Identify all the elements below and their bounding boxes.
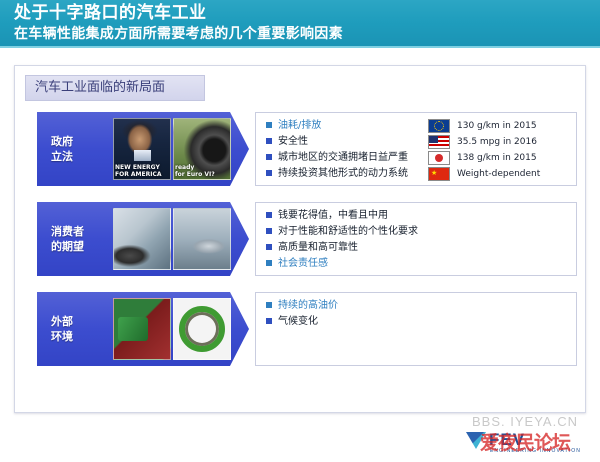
forum-watermark-text: BBS. IYEYA.CN: [460, 414, 590, 430]
factor-row: 外部 环境 持续的高油价 气候变化: [37, 292, 577, 366]
bullet-card: 油耗/排放 安全性 城市地区的交通拥堵日益严重 持续投资其他形式的动力系统: [255, 112, 577, 186]
bullet-marker-icon: [266, 244, 272, 250]
bullet-text: 油耗/排放: [278, 118, 321, 133]
flag-row: 138 g/km in 2015: [428, 150, 570, 166]
obama-new-energy-photo: NEW ENERGY FOR AMERICA: [113, 118, 171, 180]
page-title: 处于十字路口的汽车工业: [14, 2, 600, 24]
fev-logo-tagline: ENGINEERING INNOVATION: [490, 448, 581, 455]
bullet-card: 钱要花得值，中看且中用 对于性能和舒适性的个性化要求 高质量和高可靠性 社会责任…: [255, 202, 577, 276]
bullet-marker-icon: [266, 154, 272, 160]
logo-area: FEV ENGINEERING INNOVATION 爱夜民论坛: [460, 431, 590, 457]
flag-value: 130 g/km in 2015: [457, 121, 537, 131]
japan-flag-icon: [428, 151, 450, 165]
factor-row: 政府 立法 NEW ENERGY FOR AMERICA ready for E…: [37, 112, 577, 186]
bullet-marker-icon: [266, 122, 272, 128]
thumb-caption: NEW ENERGY FOR AMERICA: [114, 164, 170, 178]
bullet-text: 安全性: [278, 134, 308, 149]
bullet-text: 城市地区的交通拥堵日益严重: [278, 150, 408, 165]
category-label: 消费者 的期望: [51, 224, 107, 254]
bullet-text: 高质量和高可靠性: [278, 240, 358, 255]
bullet-marker-icon: [266, 138, 272, 144]
bullet-item: 高质量和高可靠性: [266, 240, 570, 255]
bullet-text: 持续投资其他形式的动力系统: [278, 166, 408, 181]
recycling-globe-photo: [173, 298, 231, 360]
china-flag-icon: [428, 167, 450, 181]
fev-logo-mark-icon: [466, 432, 486, 449]
flag-value: 138 g/km in 2015: [457, 153, 537, 163]
factor-row: 消费者 的期望 钱要花得值，中看且中用 对于性能和舒适性的个性化要求 高质量和高…: [37, 202, 577, 276]
slide-body: 汽车工业面临的新局面 政府 立法 NEW ENERGY FOR AMERICA …: [0, 48, 600, 462]
flag-row: 130 g/km in 2015: [428, 118, 570, 134]
bullet-item: 社会责任感: [266, 256, 570, 271]
bullet-text: 持续的高油价: [278, 298, 338, 313]
bullet-card: 持续的高油价 气候变化: [255, 292, 577, 366]
bullet-text: 对于性能和舒适性的个性化要求: [278, 224, 418, 239]
flag-value: 35.5 mpg in 2016: [457, 137, 537, 147]
regulation-flag-table: 130 g/km in 2015 35.5 mpg in 2016 138 g/…: [428, 118, 570, 182]
bullet-item: 钱要花得值，中看且中用: [266, 208, 570, 223]
category-label: 外部 环境: [51, 314, 107, 344]
bullet-item: 城市地区的交通拥堵日益严重: [266, 150, 426, 165]
bullet-item: 持续的高油价: [266, 298, 570, 313]
page-subtitle: 在车辆性能集成方面所需要考虑的几个重要影响因素: [14, 24, 600, 44]
fuel-pump-photo: [113, 298, 171, 360]
fev-logo-wordmark: FEV: [489, 430, 525, 450]
bullet-item: 对于性能和舒适性的个性化要求: [266, 224, 570, 239]
watermark-block: BBS. IYEYA.CN FEV ENGINEERING INNOVATION…: [460, 414, 590, 457]
car-interior-photo: [113, 208, 171, 270]
bullet-item: 气候变化: [266, 314, 570, 329]
bullet-marker-icon: [266, 228, 272, 234]
bullet-marker-icon: [266, 212, 272, 218]
bullet-text: 钱要花得值，中看且中用: [278, 208, 388, 223]
flag-value: Weight-dependent: [457, 169, 540, 179]
fev-logo: FEV ENGINEERING INNOVATION: [460, 431, 590, 457]
thumbnail-group: [113, 298, 231, 360]
bullet-item: 安全性: [266, 134, 426, 149]
category-label: 政府 立法: [51, 134, 107, 164]
bullet-item: 油耗/排放: [266, 118, 426, 133]
euro-vi-engine-photo: ready for Euro VI?: [173, 118, 231, 180]
bullet-marker-icon: [266, 170, 272, 176]
banner-title: 汽车工业面临的新局面: [35, 77, 165, 99]
eu-flag-icon: [428, 119, 450, 133]
slide-header: 处于十字路口的汽车工业 在车辆性能集成方面所需要考虑的几个重要影响因素: [0, 0, 600, 48]
thumb-caption: ready for Euro VI?: [174, 164, 230, 178]
flag-row: Weight-dependent: [428, 166, 570, 182]
content-frame: 汽车工业面临的新局面 政府 立法 NEW ENERGY FOR AMERICA …: [14, 65, 586, 413]
bullet-marker-icon: [266, 318, 272, 324]
bullet-text: 社会责任感: [278, 256, 328, 271]
bullet-marker-icon: [266, 260, 272, 266]
parked-car-photo: [173, 208, 231, 270]
bullet-text: 气候变化: [278, 314, 318, 329]
thumbnail-group: [113, 208, 231, 270]
flag-row: 35.5 mpg in 2016: [428, 134, 570, 150]
us-flag-icon: [428, 135, 450, 149]
bullet-item: 持续投资其他形式的动力系统: [266, 166, 426, 181]
thumbnail-group: NEW ENERGY FOR AMERICA ready for Euro VI…: [113, 118, 231, 180]
bullet-marker-icon: [266, 302, 272, 308]
